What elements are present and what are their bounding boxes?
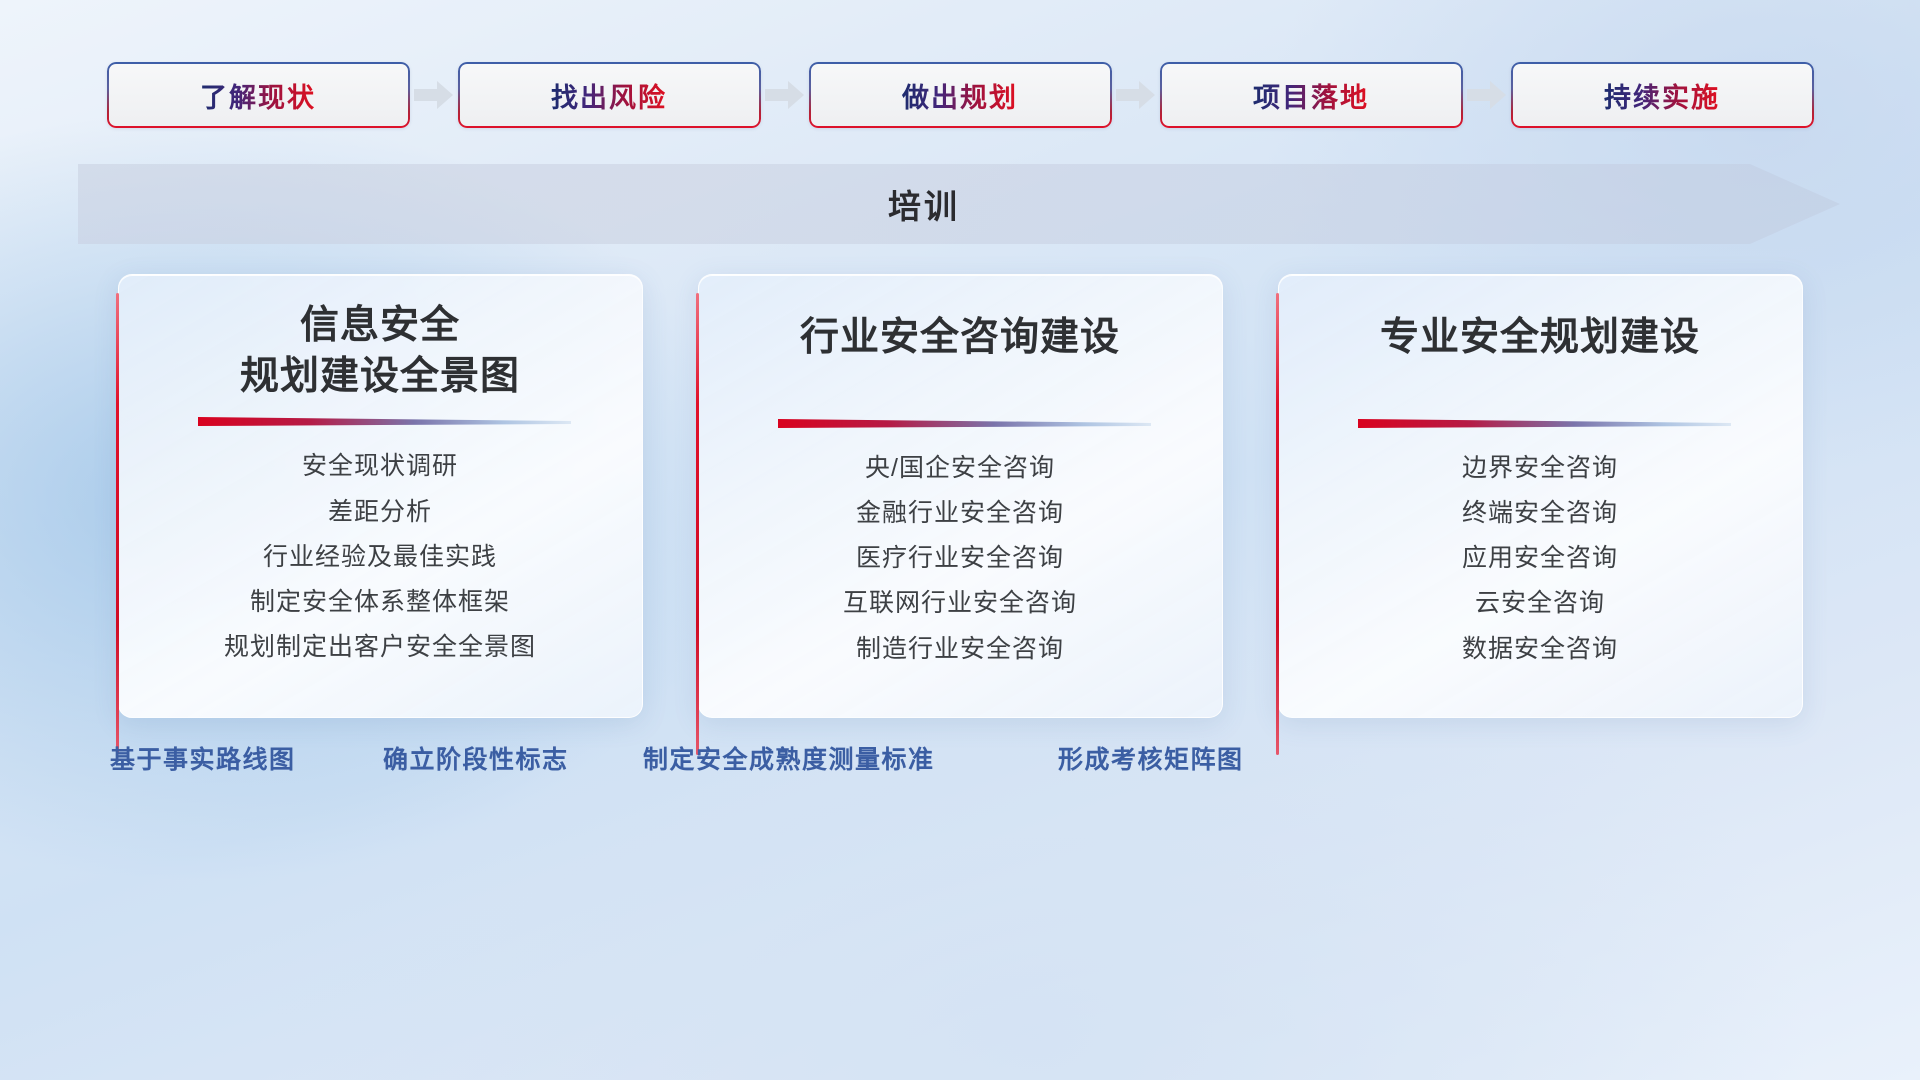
banner-title: 培训: [78, 164, 1840, 244]
step-label-1: 了解现状: [200, 76, 316, 115]
arrow-right-icon: [1112, 62, 1160, 128]
caption-maturity: 制定安全成熟度测量标准: [643, 740, 935, 776]
step-box-3[interactable]: 做出规划: [809, 62, 1112, 128]
card-title: 专业安全规划建设: [1356, 313, 1724, 364]
list-item: 央/国企安全咨询: [865, 450, 1055, 486]
list-item: 金融行业安全咨询: [856, 495, 1064, 531]
list-item: 医疗行业安全咨询: [856, 540, 1064, 576]
card-professional-planning[interactable]: 专业安全规划建设 边界安全咨询 终端安全咨询 应用安全咨询 云安全咨询 数据安全…: [1278, 274, 1803, 718]
card-item-list: 边界安全咨询 终端安全咨询 应用安全咨询 云安全咨询 数据安全咨询: [1462, 450, 1618, 667]
card-title: 行业安全咨询建设: [776, 313, 1144, 364]
card-row: 信息安全 规划建设全景图 安全现状调研 差距分析 行业经验及最佳实践 制定安全体…: [0, 274, 1920, 718]
list-item: 数据安全咨询: [1462, 631, 1618, 667]
list-item: 规划制定出客户安全全景图: [224, 629, 536, 665]
list-item: 边界安全咨询: [1462, 450, 1618, 486]
list-item: 行业经验及最佳实践: [263, 539, 497, 575]
list-item: 制造行业安全咨询: [856, 631, 1064, 667]
step-box-4[interactable]: 项目落地: [1160, 62, 1463, 128]
card-title-line: 信息安全: [240, 301, 520, 352]
card-accent-bar: [696, 293, 699, 755]
step-box-2[interactable]: 找出风险: [458, 62, 761, 128]
list-item: 差距分析: [328, 494, 432, 530]
card-accent-bar: [116, 293, 119, 755]
card-item-list: 央/国企安全咨询 金融行业安全咨询 医疗行业安全咨询 互联网行业安全咨询 制造行…: [843, 450, 1077, 667]
step-label-5: 持续实施: [1604, 76, 1720, 115]
card-title-line: 行业安全咨询建设: [800, 313, 1120, 364]
caption-row: 基于事实路线图 确立阶段性标志 制定安全成熟度测量标准 形成考核矩阵图: [0, 740, 1920, 796]
training-banner: 培训: [78, 164, 1840, 244]
step-box-1[interactable]: 了解现状: [107, 62, 410, 128]
list-item: 终端安全咨询: [1462, 495, 1618, 531]
card-security-blueprint[interactable]: 信息安全 规划建设全景图 安全现状调研 差距分析 行业经验及最佳实践 制定安全体…: [118, 274, 643, 718]
caption-roadmap: 基于事实路线图: [110, 740, 296, 776]
slide-canvas: 了解现状 找出风险 做出规划 项目落地 持续实施: [0, 0, 1920, 1080]
card-divider: [190, 416, 571, 428]
arrow-right-icon: [410, 62, 458, 128]
step-box-5[interactable]: 持续实施: [1511, 62, 1814, 128]
card-item-list: 安全现状调研 差距分析 行业经验及最佳实践 制定安全体系整体框架 规划制定出客户…: [224, 448, 536, 665]
caption-matrix: 形成考核矩阵图: [1058, 740, 1244, 776]
step-label-2: 找出风险: [551, 76, 667, 115]
list-item: 互联网行业安全咨询: [843, 585, 1077, 621]
card-accent-bar: [1276, 293, 1279, 755]
list-item: 应用安全咨询: [1462, 540, 1618, 576]
card-industry-consulting[interactable]: 行业安全咨询建设 央/国企安全咨询 金融行业安全咨询 医疗行业安全咨询 互联网行…: [698, 274, 1223, 718]
list-item: 安全现状调研: [302, 448, 458, 484]
step-label-3: 做出规划: [902, 76, 1018, 115]
card-title-line: 规划建设全景图: [240, 352, 520, 403]
arrow-right-icon: [761, 62, 809, 128]
card-divider: [1350, 418, 1731, 430]
card-title: 信息安全 规划建设全景图: [216, 301, 544, 402]
list-item: 制定安全体系整体框架: [250, 584, 510, 620]
arrow-right-icon: [1463, 62, 1511, 128]
list-item: 云安全咨询: [1475, 585, 1605, 621]
caption-milestone: 确立阶段性标志: [383, 740, 569, 776]
process-step-row: 了解现状 找出风险 做出规划 项目落地 持续实施: [0, 60, 1920, 130]
card-title-line: 专业安全规划建设: [1380, 313, 1700, 364]
card-divider: [770, 418, 1151, 430]
step-label-4: 项目落地: [1253, 76, 1369, 115]
